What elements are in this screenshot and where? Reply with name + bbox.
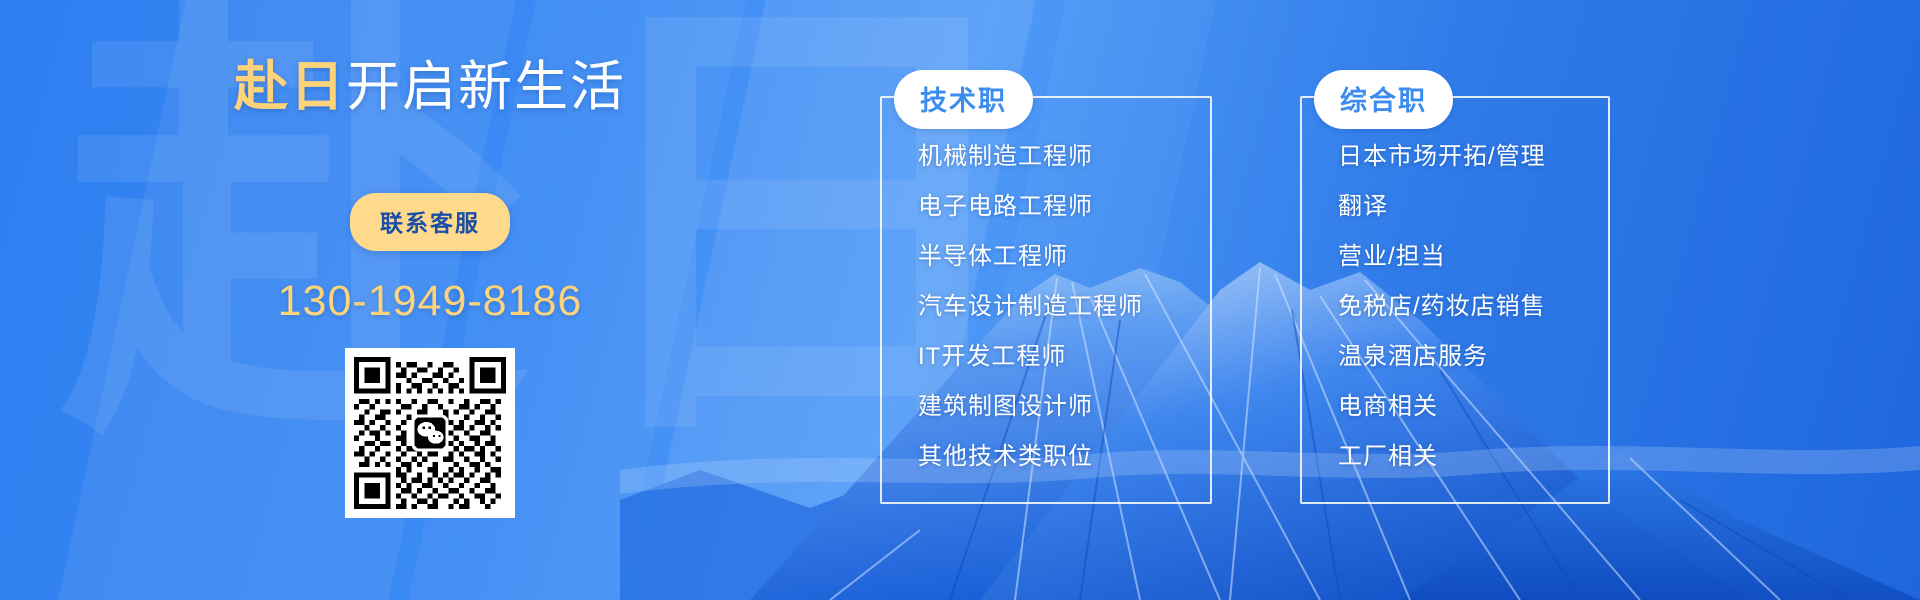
category-frame-general: 日本市场开拓/管理 翻译 营业/担当 免税店/药妆店销售 温泉酒店服务 电商相关… [1300, 96, 1610, 504]
list-item[interactable]: 电商相关 [1338, 382, 1608, 432]
promo-banner: 赴日 [0, 0, 1920, 600]
qr-code-icon [354, 357, 506, 509]
job-list-technical: 机械制造工程师 电子电路工程师 半导体工程师 汽车设计制造工程师 IT开发工程师… [918, 132, 1210, 482]
list-item[interactable]: IT开发工程师 [918, 332, 1210, 382]
list-item[interactable]: 日本市场开拓/管理 [1338, 132, 1608, 182]
list-item[interactable]: 半导体工程师 [918, 232, 1210, 282]
list-item[interactable]: 免税店/药妆店销售 [1338, 282, 1608, 332]
list-item[interactable]: 温泉酒店服务 [1338, 332, 1608, 382]
headline-rest: 开启新生活 [346, 57, 626, 117]
wechat-qr-code[interactable] [345, 348, 515, 518]
page-title: 赴日开启新生活 [234, 42, 626, 121]
category-block-general: 综合职 日本市场开拓/管理 翻译 营业/担当 免税店/药妆店销售 温泉酒店服务 … [1300, 96, 1610, 504]
wechat-logo-icon [412, 415, 449, 452]
category-badge-technical[interactable]: 技术职 [894, 70, 1033, 129]
list-item[interactable]: 建筑制图设计师 [918, 382, 1210, 432]
headline-accent: 赴日 [234, 57, 346, 117]
category-block-technical: 技术职 机械制造工程师 电子电路工程师 半导体工程师 汽车设计制造工程师 IT开… [880, 96, 1212, 504]
list-item[interactable]: 机械制造工程师 [918, 132, 1210, 182]
left-promo-column: 赴日开启新生活 联系客服 130-1949-8186 [0, 0, 860, 600]
list-item[interactable]: 工厂相关 [1338, 432, 1608, 482]
contact-service-button[interactable]: 联系客服 [350, 193, 510, 251]
list-item[interactable]: 汽车设计制造工程师 [918, 282, 1210, 332]
list-item[interactable]: 翻译 [1338, 182, 1608, 232]
list-item[interactable]: 营业/担当 [1338, 232, 1608, 282]
list-item[interactable]: 电子电路工程师 [918, 182, 1210, 232]
category-frame-technical: 机械制造工程师 电子电路工程师 半导体工程师 汽车设计制造工程师 IT开发工程师… [880, 96, 1212, 504]
list-item[interactable]: 其他技术类职位 [918, 432, 1210, 482]
job-list-general: 日本市场开拓/管理 翻译 营业/担当 免税店/药妆店销售 温泉酒店服务 电商相关… [1338, 132, 1608, 482]
category-badge-general[interactable]: 综合职 [1314, 70, 1453, 129]
phone-number: 130-1949-8186 [278, 277, 583, 326]
